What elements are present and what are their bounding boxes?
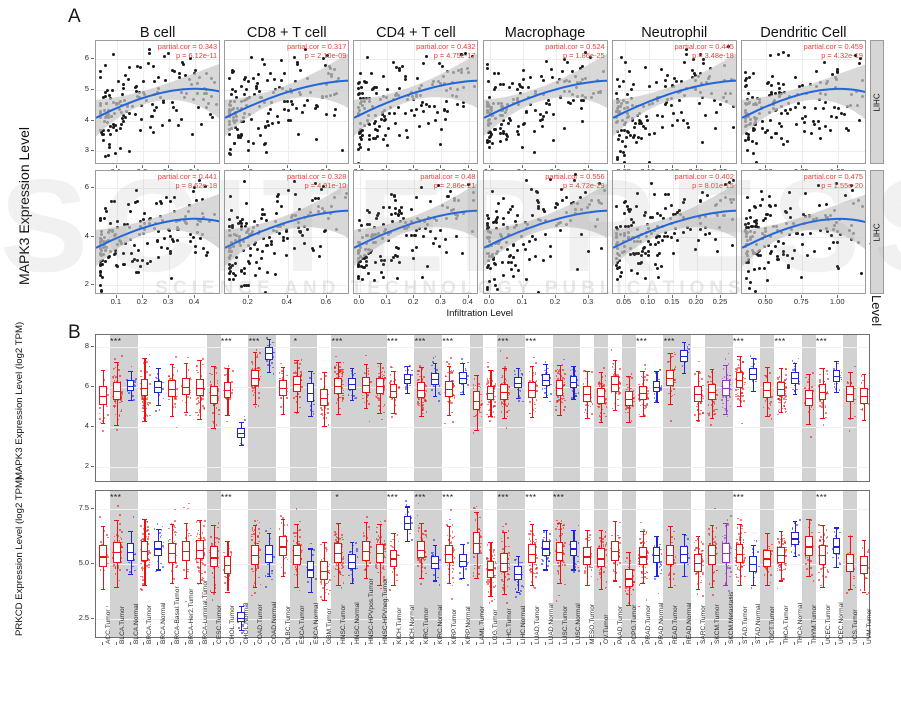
median-line — [210, 395, 218, 396]
jitter-point — [796, 389, 798, 391]
jitter-point — [162, 388, 164, 390]
jitter-point — [592, 403, 594, 405]
jitter-point — [487, 404, 489, 406]
whisker-cap — [391, 413, 396, 414]
whisker — [656, 371, 657, 381]
jitter-point — [626, 384, 628, 386]
jitter-point — [575, 393, 577, 395]
median-line — [708, 392, 716, 393]
median-line — [805, 398, 813, 399]
jitter-point — [258, 386, 260, 388]
median-line — [348, 384, 356, 385]
median-line — [141, 551, 149, 552]
correlation-annotation: partial.cor = 0.343p = 6.12e-11 — [158, 42, 217, 60]
whisker-cap — [710, 369, 715, 370]
jitter-point — [644, 379, 646, 381]
jitter-point — [174, 520, 176, 522]
jitter-point — [204, 564, 206, 566]
median-line — [570, 382, 578, 383]
jitter-point — [785, 387, 787, 389]
jitter-point — [294, 362, 296, 364]
median-line — [113, 552, 121, 553]
partial-cor-value: partial.cor = 0.402 — [674, 172, 733, 181]
median-line — [860, 396, 868, 397]
whisker-cap — [848, 418, 853, 419]
jitter-point — [431, 389, 433, 391]
jitter-point — [699, 413, 701, 415]
whisker-cap — [557, 415, 562, 416]
jitter-point — [411, 374, 413, 376]
whisker — [283, 367, 284, 380]
jitter-point — [755, 381, 757, 383]
whisker — [324, 406, 325, 426]
jitter-point — [418, 398, 420, 400]
jitter-point — [189, 415, 191, 417]
whisker-cap — [225, 368, 230, 369]
jitter-point — [119, 580, 121, 582]
jitter-point — [326, 417, 328, 419]
jitter-point — [640, 405, 642, 407]
jitter-point — [448, 363, 450, 365]
jitter-point — [478, 386, 480, 388]
jitter-point — [174, 509, 176, 511]
panel-a-x-tick-label: 0.3 — [426, 297, 454, 306]
jitter-point — [861, 382, 863, 384]
whisker — [601, 404, 602, 422]
background-band — [553, 335, 581, 481]
whisker — [131, 561, 132, 574]
jitter-point — [362, 398, 364, 400]
panel-a-x-tick-label: 0.2 — [234, 297, 262, 306]
panel-a-x-tick-mark — [194, 295, 195, 298]
jitter-point — [825, 417, 827, 419]
jitter-point — [522, 374, 524, 376]
jitter-point — [161, 529, 163, 531]
jitter-point — [741, 423, 743, 425]
jitter-point — [327, 408, 329, 410]
jitter-point — [646, 374, 648, 376]
jitter-point — [218, 522, 220, 524]
correlation-annotation: partial.cor = 0.317p = 2.10e-09 — [287, 42, 346, 60]
jitter-point — [204, 520, 206, 522]
whisker — [573, 366, 574, 376]
median-line — [251, 378, 259, 379]
jitter-point — [146, 530, 148, 532]
jitter-point — [489, 420, 491, 422]
whisker-cap — [114, 362, 119, 363]
jitter-point — [694, 373, 696, 375]
panel-a-x-tick-mark — [386, 165, 387, 168]
whisker — [214, 366, 215, 386]
p-value: p = 1.86e-25 — [545, 51, 604, 60]
whisker — [394, 398, 395, 413]
jitter-point — [106, 606, 108, 608]
panel-a-y-tick-label: 4 — [71, 115, 89, 124]
jitter-point — [834, 383, 836, 385]
jitter-point — [702, 398, 704, 400]
jitter-point — [298, 393, 300, 395]
jitter-point — [827, 373, 829, 375]
panel-a-x-tick-label: 1.00 — [823, 297, 851, 306]
jitter-point — [508, 403, 510, 405]
panel-a-x-tick-mark — [648, 165, 649, 168]
panel-a-x-tick-label: 0.1 — [508, 297, 536, 306]
median-line — [376, 386, 384, 387]
panel-a-strip-label-text: LIHC — [873, 93, 882, 111]
panel-a-column-header: CD4 + T cell — [353, 25, 478, 41]
jitter-point — [155, 571, 157, 573]
jitter-point — [535, 408, 537, 410]
jitter-point — [244, 416, 246, 418]
whisker-cap — [142, 519, 147, 520]
correlation-annotation: partial.cor = 0.475p = 1.55e-20 — [804, 172, 863, 190]
jitter-point — [121, 393, 123, 395]
jitter-point — [204, 571, 206, 573]
jitter-point — [785, 401, 787, 403]
whisker-cap — [377, 363, 382, 364]
jitter-point — [792, 369, 794, 371]
jitter-point — [149, 354, 151, 356]
panel-a-x-tick-mark — [522, 295, 523, 298]
jitter-point — [299, 363, 301, 365]
jitter-point — [452, 421, 454, 423]
jitter-point — [174, 403, 176, 405]
whisker-cap — [654, 371, 659, 372]
jitter-point — [327, 412, 329, 414]
jitter-point — [119, 514, 121, 516]
jitter-point — [272, 367, 274, 369]
whisker — [449, 397, 450, 415]
jitter-point — [644, 364, 646, 366]
jitter-point — [555, 406, 557, 408]
jitter-point — [299, 396, 301, 398]
jitter-point — [334, 366, 336, 368]
jitter-point — [339, 369, 341, 371]
jitter-point — [509, 386, 511, 388]
background-band — [414, 335, 442, 481]
panel-a-x-tick-mark — [522, 165, 523, 168]
whisker — [767, 367, 768, 382]
whisker — [241, 438, 242, 445]
panel-a-column-header: CD8 + T cell — [224, 25, 349, 41]
jitter-point — [502, 406, 504, 408]
jitter-point — [116, 429, 118, 431]
panel-a-x-tick-mark — [142, 295, 143, 298]
jitter-point — [287, 391, 289, 393]
grid-line — [96, 509, 869, 510]
jitter-point — [495, 383, 497, 385]
whisker — [573, 388, 574, 399]
jitter-point — [744, 384, 746, 386]
whisker — [131, 531, 132, 543]
jitter-point — [190, 392, 192, 394]
jitter-point — [583, 383, 585, 385]
panel-a-x-tick-mark — [765, 295, 766, 298]
scatter-plot-cell: partial.cor = 0.524p = 1.86e-25 — [483, 40, 608, 164]
panel-a-strip-label: LIHC — [870, 170, 884, 294]
jitter-point — [534, 404, 536, 406]
panel-a-x-tick-label: 0.2 — [399, 297, 427, 306]
p-value: p = 4.75e-17 — [416, 51, 475, 60]
jitter-point — [185, 414, 187, 416]
jitter-point — [140, 370, 142, 372]
median-line — [819, 392, 827, 393]
whisker-cap — [350, 368, 355, 369]
scatter-plot-cell: partial.cor = 0.432p = 4.75e-17 — [353, 40, 478, 164]
p-value: p = 8.62e-18 — [158, 181, 217, 190]
jitter-point — [654, 397, 656, 399]
scatter-plot-cell: partial.cor = 0.402p = 8.01e-15 — [612, 170, 737, 294]
jitter-point — [841, 379, 843, 381]
jitter-point — [785, 399, 787, 401]
jitter-point — [190, 397, 192, 399]
jitter-point — [114, 368, 116, 370]
jitter-point — [854, 403, 856, 405]
panel-a-x-tick-mark — [837, 165, 838, 168]
whisker — [643, 400, 644, 416]
panel-a-y-tick-mark — [91, 187, 94, 188]
jitter-point — [279, 372, 281, 374]
jitter-point — [445, 375, 447, 377]
jitter-point — [114, 358, 116, 360]
jitter-point — [451, 412, 453, 414]
median-line — [154, 548, 162, 549]
jitter-point — [826, 370, 828, 372]
panel-a-x-tick-mark — [468, 165, 469, 168]
jitter-point — [163, 398, 165, 400]
jitter-point — [646, 396, 648, 398]
jitter-point — [142, 576, 144, 578]
jitter-point — [196, 521, 198, 523]
whisker — [324, 372, 325, 389]
whisker-cap — [142, 421, 147, 422]
significance-stars: *** — [724, 336, 754, 346]
jitter-point — [218, 409, 220, 411]
jitter-point — [488, 382, 490, 384]
whisker — [836, 361, 837, 370]
whisker — [186, 523, 187, 541]
jitter-point — [217, 383, 219, 385]
jitter-point — [177, 370, 179, 372]
jitter-point — [107, 537, 109, 539]
median-line — [99, 556, 107, 557]
jitter-point — [501, 411, 503, 413]
whisker — [158, 529, 159, 541]
jitter-point — [453, 385, 455, 387]
jitter-point — [321, 409, 323, 411]
jitter-point — [203, 407, 205, 409]
whisker — [269, 360, 270, 372]
jitter-point — [176, 427, 178, 429]
jitter-point — [494, 405, 496, 407]
panel-a-x-tick-label: 0.25 — [706, 297, 734, 306]
jitter-point — [619, 382, 621, 384]
jitter-point — [819, 400, 821, 402]
panel-a-y-tick-mark — [91, 89, 94, 90]
significance-stars: *** — [433, 336, 463, 346]
jitter-point — [157, 523, 159, 525]
jitter-point — [368, 403, 370, 405]
jitter-point — [721, 399, 723, 401]
jitter-point — [763, 407, 765, 409]
jitter-point — [367, 400, 369, 402]
jitter-point — [467, 375, 469, 377]
jitter-point — [395, 379, 397, 381]
jitter-point — [479, 411, 481, 413]
whisker — [297, 360, 298, 376]
jitter-point — [646, 379, 648, 381]
jitter-point — [514, 374, 516, 376]
whisker — [158, 368, 159, 381]
whisker-cap — [308, 416, 313, 417]
whisker-cap — [239, 422, 244, 423]
jitter-point — [707, 381, 709, 383]
jitter-point — [216, 537, 218, 539]
whisker-cap — [793, 394, 798, 395]
median-line — [127, 386, 135, 387]
jitter-point — [506, 380, 508, 382]
grid-line — [96, 347, 869, 348]
correlation-annotation: partial.cor = 0.432p = 4.75e-17 — [416, 42, 475, 60]
jitter-point — [196, 412, 198, 414]
median-line — [459, 378, 467, 379]
jitter-point — [409, 385, 411, 387]
jitter-point — [135, 378, 137, 380]
jitter-point — [501, 377, 503, 379]
jitter-point — [162, 566, 164, 568]
whisker — [643, 371, 644, 386]
whisker — [864, 374, 865, 388]
median-line — [514, 383, 522, 384]
p-value: p = 6.12e-11 — [158, 51, 217, 60]
jitter-point — [343, 362, 345, 364]
jitter-point — [769, 372, 771, 374]
jitter-point — [502, 402, 504, 404]
scatter-plot-cell: partial.cor = 0.317p = 2.10e-09 — [224, 40, 349, 164]
whisker — [836, 382, 837, 392]
jitter-point — [182, 400, 184, 402]
panel-a-x-tick-label: 0.2 — [128, 297, 156, 306]
jitter-point — [487, 366, 489, 368]
median-line — [113, 391, 121, 392]
jitter-point — [381, 419, 383, 421]
jitter-point — [555, 409, 557, 411]
jitter-point — [187, 571, 189, 573]
jitter-point — [710, 424, 712, 426]
whisker-cap — [820, 418, 825, 419]
jitter-point — [647, 390, 649, 392]
jitter-point — [100, 541, 102, 543]
correlation-annotation: partial.cor = 0.328p = 4.91e-10 — [287, 172, 346, 190]
jitter-point — [714, 403, 716, 405]
jitter-point — [723, 368, 725, 370]
whisker — [407, 384, 408, 393]
whisker-cap — [184, 363, 189, 364]
jitter-point — [633, 390, 635, 392]
jitter-point — [252, 363, 254, 365]
median-line — [265, 353, 273, 354]
whisker — [200, 520, 201, 540]
jitter-point — [730, 406, 732, 408]
whisker-cap — [447, 366, 452, 367]
jitter-point — [160, 536, 162, 538]
p-value: p = 4.91e-10 — [287, 181, 346, 190]
panel-a-x-tick-mark — [801, 295, 802, 298]
panel-a-x-tick-mark — [413, 295, 414, 298]
jitter-point — [391, 367, 393, 369]
whisker — [629, 376, 630, 391]
jitter-point — [365, 355, 367, 357]
jitter-point — [106, 534, 108, 536]
jitter-point — [107, 563, 109, 565]
jitter-point — [547, 368, 549, 370]
jitter-point — [201, 573, 203, 575]
whisker-cap — [751, 391, 756, 392]
jitter-point — [174, 398, 176, 400]
jitter-point — [126, 569, 128, 571]
median-line — [653, 387, 661, 388]
jitter-point — [659, 369, 661, 371]
panel-a-x-tick-mark — [248, 165, 249, 168]
jitter-point — [216, 424, 218, 426]
jitter-point — [148, 564, 150, 566]
jitter-point — [694, 414, 696, 416]
jitter-point — [212, 599, 214, 601]
jitter-point — [688, 344, 690, 346]
whisker-cap — [253, 404, 258, 405]
scatter-plot-cell: partial.cor = 0.343p = 6.12e-11 — [95, 40, 220, 164]
jitter-point — [226, 421, 228, 423]
whisker-cap — [543, 397, 548, 398]
jitter-point — [542, 388, 544, 390]
whisker — [740, 388, 741, 406]
jitter-point — [709, 376, 711, 378]
scatter-plot-cell: partial.cor = 0.48p = 2.86e-21 — [353, 170, 478, 294]
jitter-point — [770, 401, 772, 403]
jitter-point — [647, 404, 649, 406]
whisker — [103, 370, 104, 386]
jitter-point — [743, 400, 745, 402]
whisker — [352, 390, 353, 400]
jitter-point — [853, 418, 855, 420]
jitter-point — [286, 375, 288, 377]
jitter-point — [121, 355, 123, 357]
jitter-point — [618, 393, 620, 395]
significance-stars: * — [281, 336, 311, 346]
whisker-cap — [806, 374, 811, 375]
median-line — [279, 388, 287, 389]
whisker-cap — [696, 371, 701, 372]
jitter-point — [805, 377, 807, 379]
whisker — [823, 368, 824, 384]
whisker-cap — [710, 418, 715, 419]
whisker — [352, 368, 353, 378]
jitter-point — [860, 409, 862, 411]
jitter-point — [362, 395, 364, 397]
jitter-point — [299, 407, 301, 409]
jitter-point — [140, 525, 142, 527]
jitter-point — [218, 538, 220, 540]
jitter-point — [804, 387, 806, 389]
whisker — [560, 396, 561, 415]
whisker-cap — [654, 402, 659, 403]
jitter-point — [778, 402, 780, 404]
whisker — [477, 410, 478, 430]
whisker — [753, 358, 754, 368]
median-line — [487, 393, 495, 394]
jitter-point — [197, 372, 199, 374]
whisker — [518, 368, 519, 377]
